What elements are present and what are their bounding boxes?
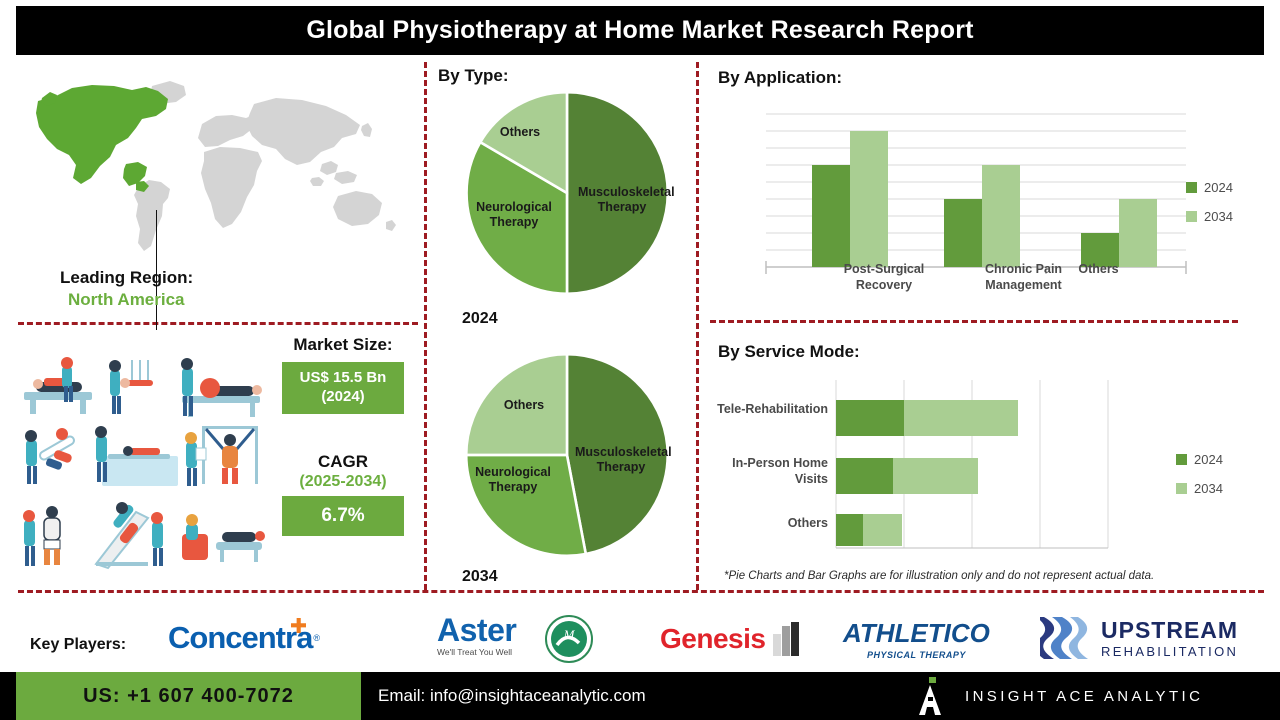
market-size-value: US$ 15.5 Bn [300,369,387,388]
logo-athletico[interactable]: ATHLETICO PHYSICAL THERAPY [843,618,990,660]
footer-brand-block: INSIGHT ACE ANALYTIC [915,672,1203,720]
legend-label-2034: 2034 [1204,209,1233,224]
legend-swatch-2034-icon [1186,211,1197,222]
physiotherapy-illustrations [10,352,268,584]
physiotherapy-scenes-icon [10,352,268,584]
market-size-year: (2024) [321,388,364,407]
logo-aster[interactable]: Aster We'll Treat You Well [437,612,516,657]
logo-aster-tagline: We'll Treat You Well [437,647,512,657]
by-service-mode-panel: By Service Mode: Tele-Rehabilitation In-… [706,330,1266,585]
divider-horizontal-right [710,320,1238,323]
leading-region-value: North America [68,290,185,310]
legend-label-2024: 2024 [1204,180,1233,195]
logo-concentra[interactable]: Concentra ® [168,620,320,656]
leading-region-label: Leading Region: [60,268,193,288]
footer-email-block: Email: info@insightaceanalytic.com [378,672,646,720]
world-map-icon [26,68,416,268]
logo-aster-text: Aster [437,612,516,649]
svc-category-in-person-home-visits: In-Person Home Visits [700,456,828,487]
footer-brand-text: INSIGHT ACE ANALYTIC [965,688,1203,705]
bar-chart-by-service-mode [834,376,1124,556]
logo-genesis-text: Genesis [660,623,765,655]
cagr-title: CAGR [268,452,418,472]
divider-vertical-right [696,62,699,590]
cagr-value: 6.7% [321,505,364,527]
cagr-value-box: 6.7% [282,496,404,536]
by-type-panel: By Type: Musculoskeletal Therapy Neurolo… [430,60,692,590]
by-application-panel: By Application: [706,62,1266,312]
legend-by-application: 2024 2034 [1186,180,1233,238]
market-stats-panel: Market Size: US$ 15.5 Bn (2024) CAGR (20… [268,335,418,580]
app-category-post-surgical: Post-Surgical Recovery [824,262,944,293]
logo-upstream-text: UPSTREAM [1101,617,1238,644]
logo-upstream[interactable]: UPSTREAM REHABILITATION [1040,615,1238,661]
pie-2034-year: 2034 [462,568,498,586]
genesis-bars-icon [773,622,809,656]
legend-label-2034: 2034 [1194,481,1223,496]
divider-horizontal-bottom [18,590,1264,593]
legend-label-2024: 2024 [1194,452,1223,467]
app-category-others: Others [1031,262,1166,278]
page-title: Global Physiotherapy at Home Market Rese… [306,16,973,45]
logo-upstream-tagline: REHABILITATION [1101,644,1238,659]
legend-by-service-mode: 2024 2034 [1176,452,1223,510]
legend-item-2024: 2024 [1176,452,1223,467]
footer-email-text: Email: info@insightaceanalytic.com [378,686,646,706]
logo-concentra-mark: ® [313,633,320,643]
by-application-title: By Application: [718,68,842,88]
legend-swatch-2024-icon [1186,182,1197,193]
legend-item-2034: 2034 [1176,481,1223,496]
charts-footnote: *Pie Charts and Bar Graphs are for illus… [724,570,1154,582]
upstream-wave-icon [1040,615,1092,661]
by-service-mode-title: By Service Mode: [718,342,860,362]
key-players-label: Key Players: [30,636,126,654]
market-size-box: US$ 15.5 Bn (2024) [282,362,404,414]
aster-seal-icon: M [545,615,593,663]
pie-chart-2024 [462,88,672,298]
pie-2024-year: 2024 [462,310,498,328]
logo-athletico-tagline: PHYSICAL THERAPY [867,650,966,660]
insight-ace-logo-icon [915,677,945,715]
footer-phone-block: US: +1 607 400-7072 [16,672,361,720]
svc-category-tele-rehabilitation: Tele-Rehabilitation [706,402,828,418]
svg-text:M: M [563,627,576,642]
plus-cross-icon [291,618,306,633]
legend-swatch-2024-icon [1176,454,1187,465]
logo-genesis[interactable]: Genesis [660,622,809,656]
logo-athletico-text: ATHLETICO [843,618,990,649]
legend-item-2034: 2034 [1186,209,1233,224]
legend-swatch-2034-icon [1176,483,1187,494]
infographic-page: Global Physiotherapy at Home Market Rese… [0,0,1280,720]
pie-chart-2034 [462,350,672,560]
legend-item-2024: 2024 [1186,180,1233,195]
market-size-title: Market Size: [268,335,418,355]
divider-horizontal-left [18,322,418,325]
svc-category-others: Others [706,516,828,532]
header-bar: Global Physiotherapy at Home Market Rese… [16,6,1264,55]
divider-vertical-left [424,62,427,590]
cagr-years: (2025-2034) [268,473,418,491]
footer-phone-text: US: +1 607 400-7072 [83,685,294,708]
by-type-title: By Type: [438,66,509,86]
